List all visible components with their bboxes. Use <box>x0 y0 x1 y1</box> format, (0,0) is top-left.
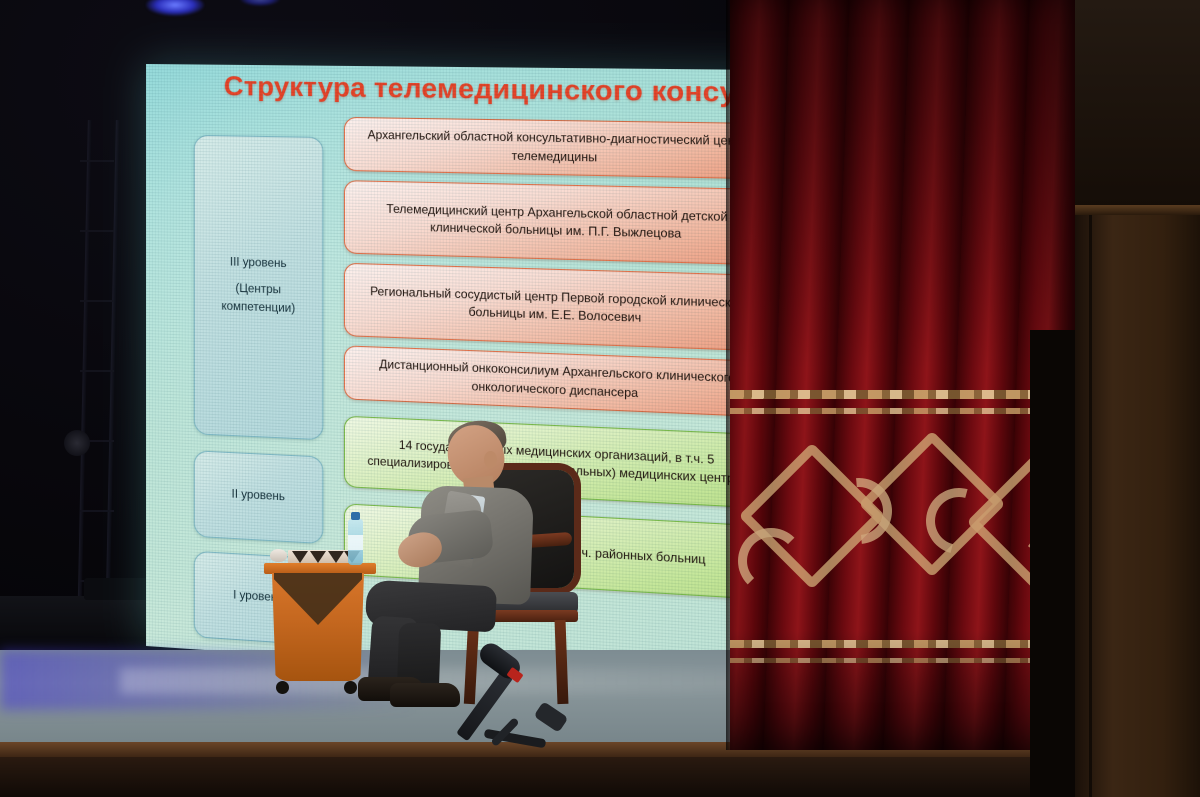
level-3-item-1: Архангельский областной консультативно-д… <box>344 117 773 180</box>
level-3-item-4: Дистанционный онкоконсилиум Архангельско… <box>344 346 773 419</box>
level-3-item-3-text: Региональный сосудистый центр Первой гор… <box>359 282 756 332</box>
slide-title: Структура телемедицинского консу <box>224 71 800 110</box>
level-3-label-box: III уровень (Центры компетенции) <box>194 135 324 440</box>
level-3-item-3: Региональный сосудистый центр Первой гор… <box>344 263 773 352</box>
curtain-gold-band-1 <box>730 390 1075 399</box>
wall-panel-upper <box>1075 0 1200 208</box>
curtain-top-shadow <box>730 0 1075 370</box>
curtain-gold-band-2 <box>730 408 1075 414</box>
curtain-ornament <box>730 422 1075 637</box>
mic-base-pad <box>534 701 569 733</box>
level-3-sublabel: (Центры компетенции) <box>203 280 314 320</box>
curtain-bottom-shadow <box>730 630 1075 750</box>
level-3-item-2-text: Телемедицинский центр Архангельской обла… <box>359 199 756 245</box>
orchestra-pit-shadow <box>0 757 1080 797</box>
floor-microphone <box>478 648 588 758</box>
wall-panel-ledge <box>1075 205 1200 215</box>
caster-wheel-left <box>276 681 289 694</box>
backstage-gap <box>1030 330 1080 797</box>
mouse-device <box>270 549 287 562</box>
red-velvet-curtain <box>730 0 1075 750</box>
level-3-item-2: Телемедицинский центр Архангельской обла… <box>344 180 773 265</box>
caster-wheel-right <box>344 681 357 694</box>
level-3-label: III уровень <box>230 255 287 275</box>
stage-fixture <box>64 430 90 456</box>
level-3-item-1-text: Архангельский областной консультативно-д… <box>359 126 756 170</box>
level-2-label-box: II уровень <box>194 450 324 544</box>
stage-photo: Структура телемедицинского консу III уро… <box>0 0 1200 797</box>
wall-panel-seam <box>1089 215 1092 797</box>
water-bottle <box>348 519 363 565</box>
speaker-shoe-right <box>390 683 460 707</box>
wall-panel <box>1075 0 1200 797</box>
rolling-lectern <box>270 563 368 691</box>
level-3-item-4-text: Дистанционный онкоконсилиум Архангельско… <box>359 355 756 407</box>
level-2-label: II уровень <box>232 487 285 508</box>
speaker-ear <box>484 451 497 468</box>
